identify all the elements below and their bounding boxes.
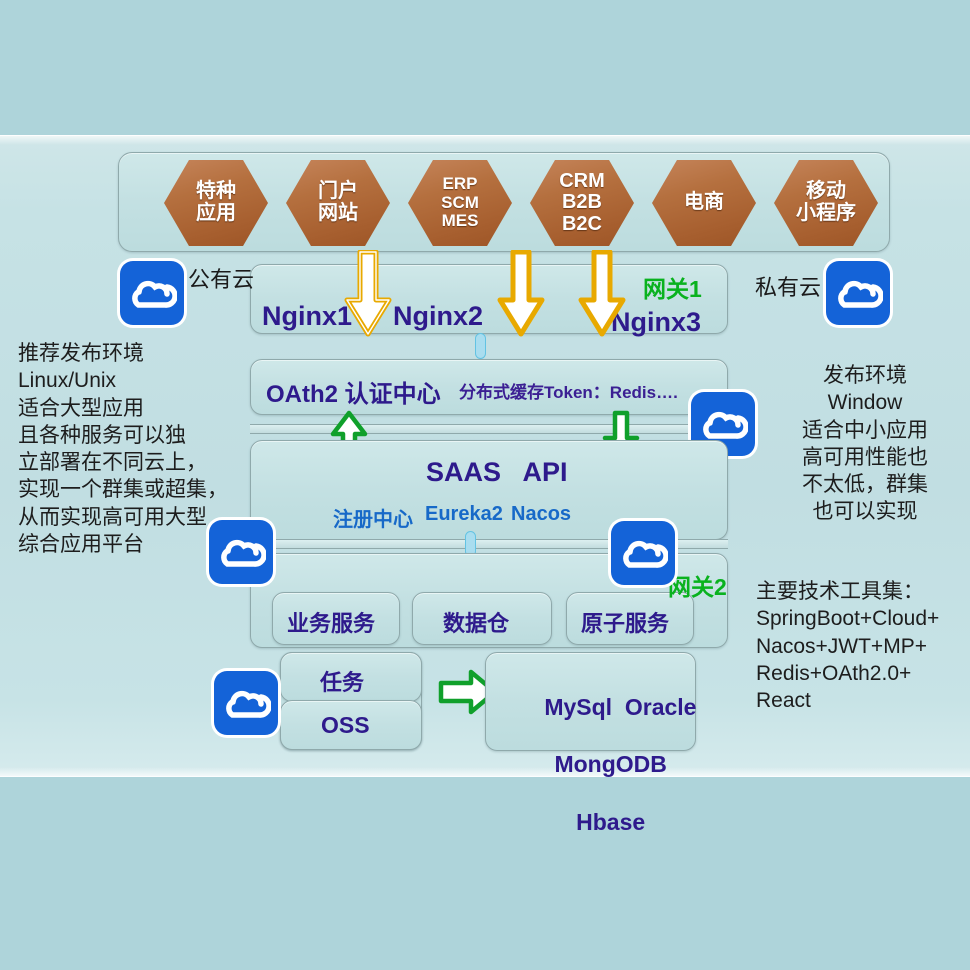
hex-line: 网站 bbox=[318, 202, 358, 224]
hex-line: SCM bbox=[441, 193, 479, 212]
right-note-tech-stack: 主要技术工具集： SpringBoot+Cloud+ Nacos+JWT+MP+… bbox=[756, 578, 970, 714]
auth-container: OAth2 认证中心 分布式缓存Token：Redis…. bbox=[250, 359, 728, 415]
divider-bar bbox=[250, 424, 728, 434]
cloud-icon bbox=[120, 261, 184, 325]
hex-line: 应用 bbox=[196, 202, 236, 224]
oss-label: OSS bbox=[321, 712, 370, 739]
database-box[interactable]: MySql Oracle MongODB Hbase bbox=[485, 652, 696, 751]
connector bbox=[475, 333, 486, 359]
hex-line: B2C bbox=[562, 213, 602, 235]
hex-line: 特种 bbox=[196, 180, 236, 202]
cloud-icon bbox=[214, 671, 278, 735]
service-label: 原子服务 bbox=[581, 606, 669, 638]
hex-line: 移动 bbox=[806, 180, 846, 202]
app-hexagon[interactable]: CRMB2BB2C bbox=[530, 160, 634, 246]
public-cloud-label: 公有云 bbox=[188, 262, 254, 294]
cloud-icon bbox=[611, 521, 675, 585]
task-label: 任务 bbox=[320, 665, 364, 697]
eureka-label[interactable]: Eureka2 bbox=[425, 503, 503, 526]
service-box[interactable]: 数据仓 bbox=[412, 592, 552, 645]
cloud-icon bbox=[826, 261, 890, 325]
arrow-down-icon bbox=[344, 250, 392, 343]
hex-line: ERP bbox=[443, 174, 478, 193]
registry-label: 注册中心 bbox=[333, 503, 413, 532]
arrow-down-icon bbox=[578, 250, 626, 343]
service-box[interactable]: 业务服务 bbox=[272, 592, 400, 645]
db-line: MongODB bbox=[554, 751, 666, 777]
nginx1-label[interactable]: Nginx1 bbox=[262, 301, 352, 332]
oss-box[interactable]: OSS bbox=[280, 700, 422, 750]
service-label: 数据仓 bbox=[443, 606, 509, 638]
app-hexagon[interactable]: ERPSCMMES bbox=[408, 160, 512, 246]
saas-api-label: SAAS API bbox=[426, 457, 568, 488]
hex-line: 电商 bbox=[684, 191, 724, 213]
gateway-container: Nginx1 Nginx2 Nginx3 网关1 bbox=[250, 264, 728, 334]
diagram-canvas: 特种应用 门户网站 ERPSCMMES CRMB2BB2C 电商 移动小程序 N… bbox=[0, 0, 970, 970]
nacos-label[interactable]: Nacos bbox=[511, 503, 571, 526]
nginx2-label[interactable]: Nginx2 bbox=[393, 301, 483, 332]
service-label: 业务服务 bbox=[287, 606, 375, 638]
left-note: 推荐发布环境 Linux/Unix 适合大型应用 且各种服务可以独 立部署在不同… bbox=[18, 340, 243, 558]
app-hexagon[interactable]: 电商 bbox=[652, 160, 756, 246]
token-cache-label: 分布式缓存Token：Redis…. bbox=[459, 378, 678, 403]
hex-line: MES bbox=[442, 211, 479, 230]
hex-line: B2B bbox=[562, 191, 602, 213]
arrow-down-icon bbox=[497, 250, 545, 343]
hex-line: 门户 bbox=[318, 180, 358, 202]
hex-line: CRM bbox=[559, 170, 605, 192]
gateway1-label: 网关1 bbox=[643, 270, 702, 304]
right-note-environment: 发布环境 Window 适合中小应用 高可用性能也 不太低，群集 也可以实现 bbox=[770, 362, 960, 526]
gateway2-label: 网关2 bbox=[668, 568, 727, 602]
db-line: MySql Oracle bbox=[544, 694, 696, 720]
db-line: Hbase bbox=[576, 809, 645, 835]
hex-line: 小程序 bbox=[796, 202, 856, 224]
app-hexagon[interactable]: 门户网站 bbox=[286, 160, 390, 246]
app-hexagon[interactable]: 特种应用 bbox=[164, 160, 268, 246]
oauth-label[interactable]: OAth2 认证中心 bbox=[266, 374, 441, 409]
private-cloud-label: 私有云 bbox=[755, 270, 821, 302]
app-hexagon[interactable]: 移动小程序 bbox=[774, 160, 878, 246]
task-box[interactable]: 任务 bbox=[280, 652, 422, 702]
applications-container: 特种应用 门户网站 ERPSCMMES CRMB2BB2C 电商 移动小程序 bbox=[118, 152, 890, 252]
